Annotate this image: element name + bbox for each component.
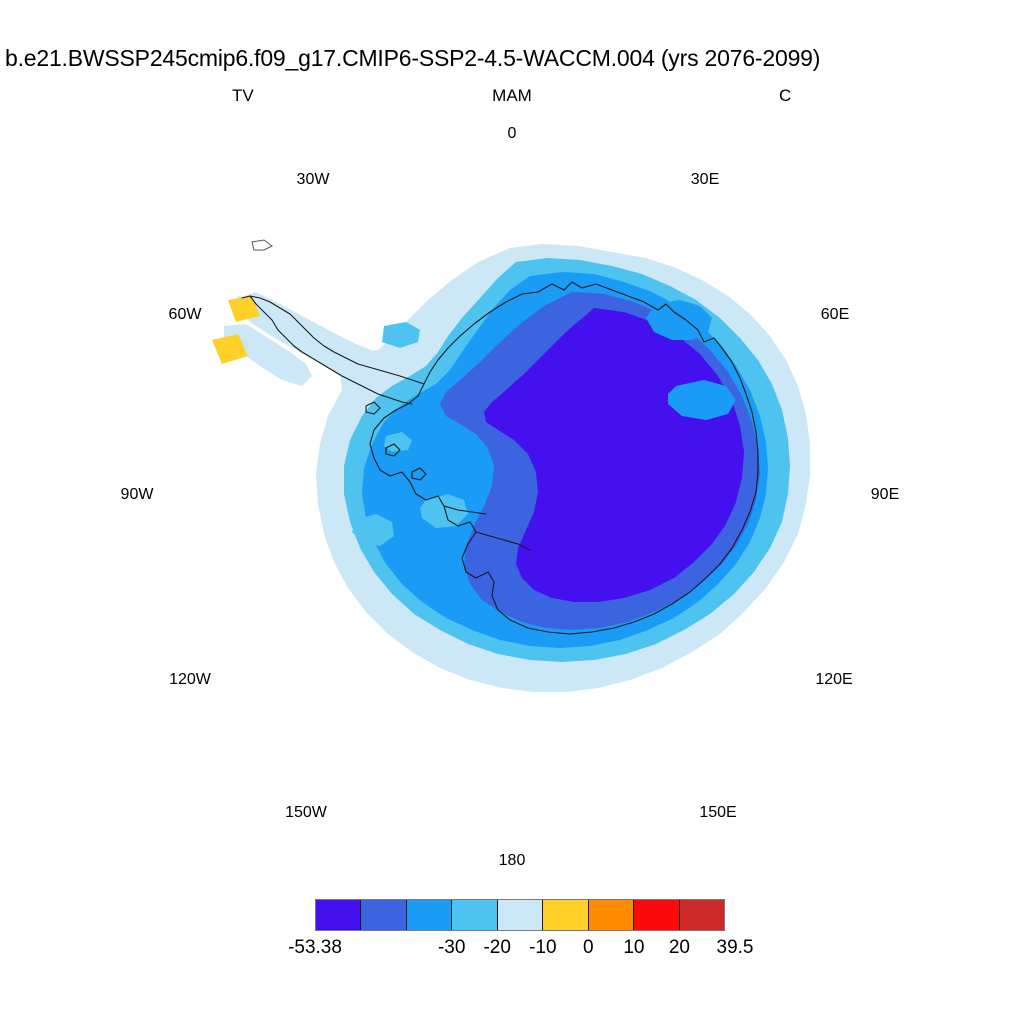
figure-canvas: b.e21.BWSSP245cmip6.f09_g17.CMIP6-SSP2-4… xyxy=(0,0,1024,1024)
colorbar-tick-max: 39.5 xyxy=(717,936,754,960)
colorbar-tick-20: 20 xyxy=(669,936,690,960)
colorbar-tick--10: -10 xyxy=(529,936,556,960)
colorbar-segment-3 xyxy=(452,900,497,930)
season-label: MAM xyxy=(0,85,1024,107)
colorbar-segment-5 xyxy=(543,900,588,930)
colorbar-tick-10: 10 xyxy=(623,936,644,960)
colorbar-segment-1 xyxy=(361,900,406,930)
lon-label-150e: 150E xyxy=(670,803,766,823)
colorbar-segment-8 xyxy=(680,900,724,930)
units-label: C xyxy=(779,85,791,107)
lon-label-150w: 150W xyxy=(258,803,354,823)
contour-field-svg xyxy=(180,200,844,780)
colorbar-tick-0: 0 xyxy=(583,936,594,960)
lon-label-90e: 90E xyxy=(840,485,930,505)
page-title: b.e21.BWSSP245cmip6.f09_g17.CMIP6-SSP2-4… xyxy=(5,45,820,71)
colorbar-tick--20: -20 xyxy=(483,936,510,960)
colorbar-segment-4 xyxy=(498,900,543,930)
lon-label-0: 0 xyxy=(462,124,562,144)
colorbar-strip xyxy=(315,899,725,931)
colorbar-segment-7 xyxy=(634,900,679,930)
colorbar-tick-labels: -53.38 -30 -20 -10 0 10 20 39.5 xyxy=(315,936,725,962)
colorbar-tick-min: -53.38 xyxy=(288,936,342,960)
antarctica-contour-map xyxy=(180,200,844,780)
lon-label-30w: 30W xyxy=(268,170,358,190)
colorbar-segment-6 xyxy=(589,900,634,930)
island-outline xyxy=(252,240,272,250)
colorbar-tick--30: -30 xyxy=(438,936,465,960)
subtitle-row: TV MAM C xyxy=(0,85,1024,109)
colorbar-segment-2 xyxy=(407,900,452,930)
colorbar-segment-0 xyxy=(316,900,361,930)
colorbar xyxy=(315,899,725,931)
lon-label-30e: 30E xyxy=(660,170,750,190)
lon-label-90w: 90W xyxy=(92,485,182,505)
lon-label-180: 180 xyxy=(462,851,562,871)
